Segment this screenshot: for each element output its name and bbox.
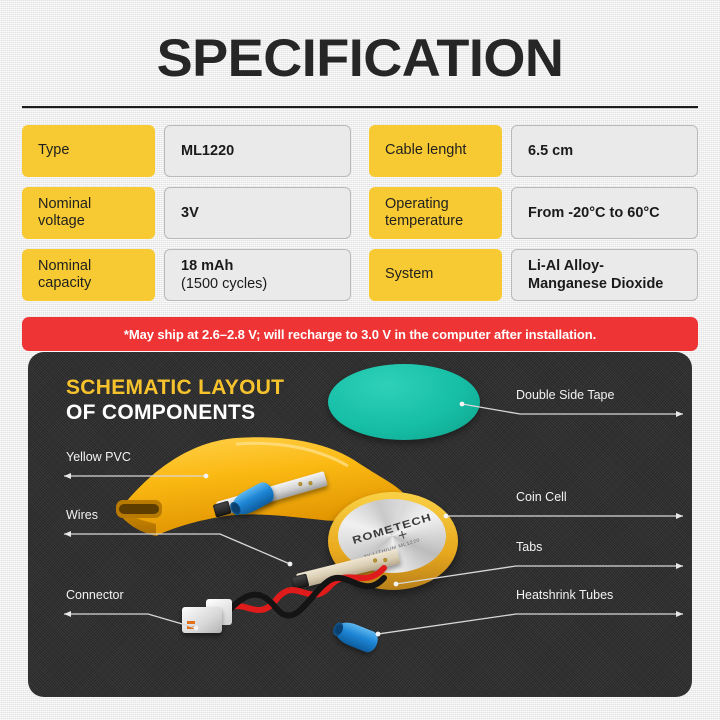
callout-label-double-side-tape: Double Side Tape xyxy=(516,388,614,402)
spec-value-type: ML1220 xyxy=(164,125,351,177)
spec-key-type: Type xyxy=(22,125,155,177)
spec-value-nominal-capacity-primary: 18 mAh xyxy=(181,257,334,275)
spec-key-operating-temperature: Operating temperature xyxy=(369,187,502,239)
callout-label-yellow-pvc: Yellow PVC xyxy=(66,450,131,464)
page-title: SPECIFICATION xyxy=(0,28,720,89)
callout-label-coin-cell: Coin Cell xyxy=(516,490,567,504)
callout-label-heatshrink-tubes: Heatshrink Tubes xyxy=(516,588,613,602)
title-divider xyxy=(22,106,698,109)
spec-key-cable-length: Cable lenght xyxy=(369,125,502,177)
spec-value-nominal-voltage: 3V xyxy=(164,187,351,239)
callout-label-wires: Wires xyxy=(66,508,98,522)
spec-row-type: Type ML1220 xyxy=(22,125,351,177)
spec-row-nominal-voltage: Nominal voltage 3V xyxy=(22,187,351,239)
spec-row-cable-length: Cable lenght 6.5 cm xyxy=(369,125,698,177)
spec-value-system-primary: Li-Al Alloy-Manganese Dioxide xyxy=(528,257,681,293)
spec-value-operating-temperature: From -20°C to 60°C xyxy=(511,187,698,239)
page-header: SPECIFICATION xyxy=(0,0,720,89)
spec-key-nominal-voltage: Nominal voltage xyxy=(22,187,155,239)
shipping-voltage-note-text: *May ship at 2.6–2.8 V; will recharge to… xyxy=(124,327,596,342)
spec-row-nominal-capacity: Nominal capacity 18 mAh (1500 cycles) xyxy=(22,249,351,301)
spec-value-system: Li-Al Alloy-Manganese Dioxide xyxy=(511,249,698,301)
callout-label-connector: Connector xyxy=(66,588,124,602)
specification-table: Type ML1220 Cable lenght 6.5 cm Nominal … xyxy=(22,125,698,301)
spec-value-cable-length: 6.5 cm xyxy=(511,125,698,177)
spec-value-cable-length-primary: 6.5 cm xyxy=(528,142,681,160)
spec-row-system: System Li-Al Alloy-Manganese Dioxide xyxy=(369,249,698,301)
spec-key-nominal-capacity: Nominal capacity xyxy=(22,249,155,301)
schematic-layout-panel: SCHEMATIC LAYOUT OF COMPONENTS xyxy=(28,352,692,697)
spec-value-nominal-capacity: 18 mAh (1500 cycles) xyxy=(164,249,351,301)
specification-page: SPECIFICATION Type ML1220 Cable lenght 6… xyxy=(0,0,720,720)
callout-label-tabs: Tabs xyxy=(516,540,542,554)
spec-value-operating-temperature-primary: From -20°C to 60°C xyxy=(528,204,681,222)
spec-value-nominal-capacity-secondary: (1500 cycles) xyxy=(181,275,334,293)
spec-row-operating-temperature: Operating temperature From -20°C to 60°C xyxy=(369,187,698,239)
callout-leader-lines xyxy=(28,352,692,697)
spec-value-type-primary: ML1220 xyxy=(181,142,334,160)
spec-key-system: System xyxy=(369,249,502,301)
shipping-voltage-note: *May ship at 2.6–2.8 V; will recharge to… xyxy=(22,317,698,351)
spec-value-nominal-voltage-primary: 3V xyxy=(181,204,334,222)
